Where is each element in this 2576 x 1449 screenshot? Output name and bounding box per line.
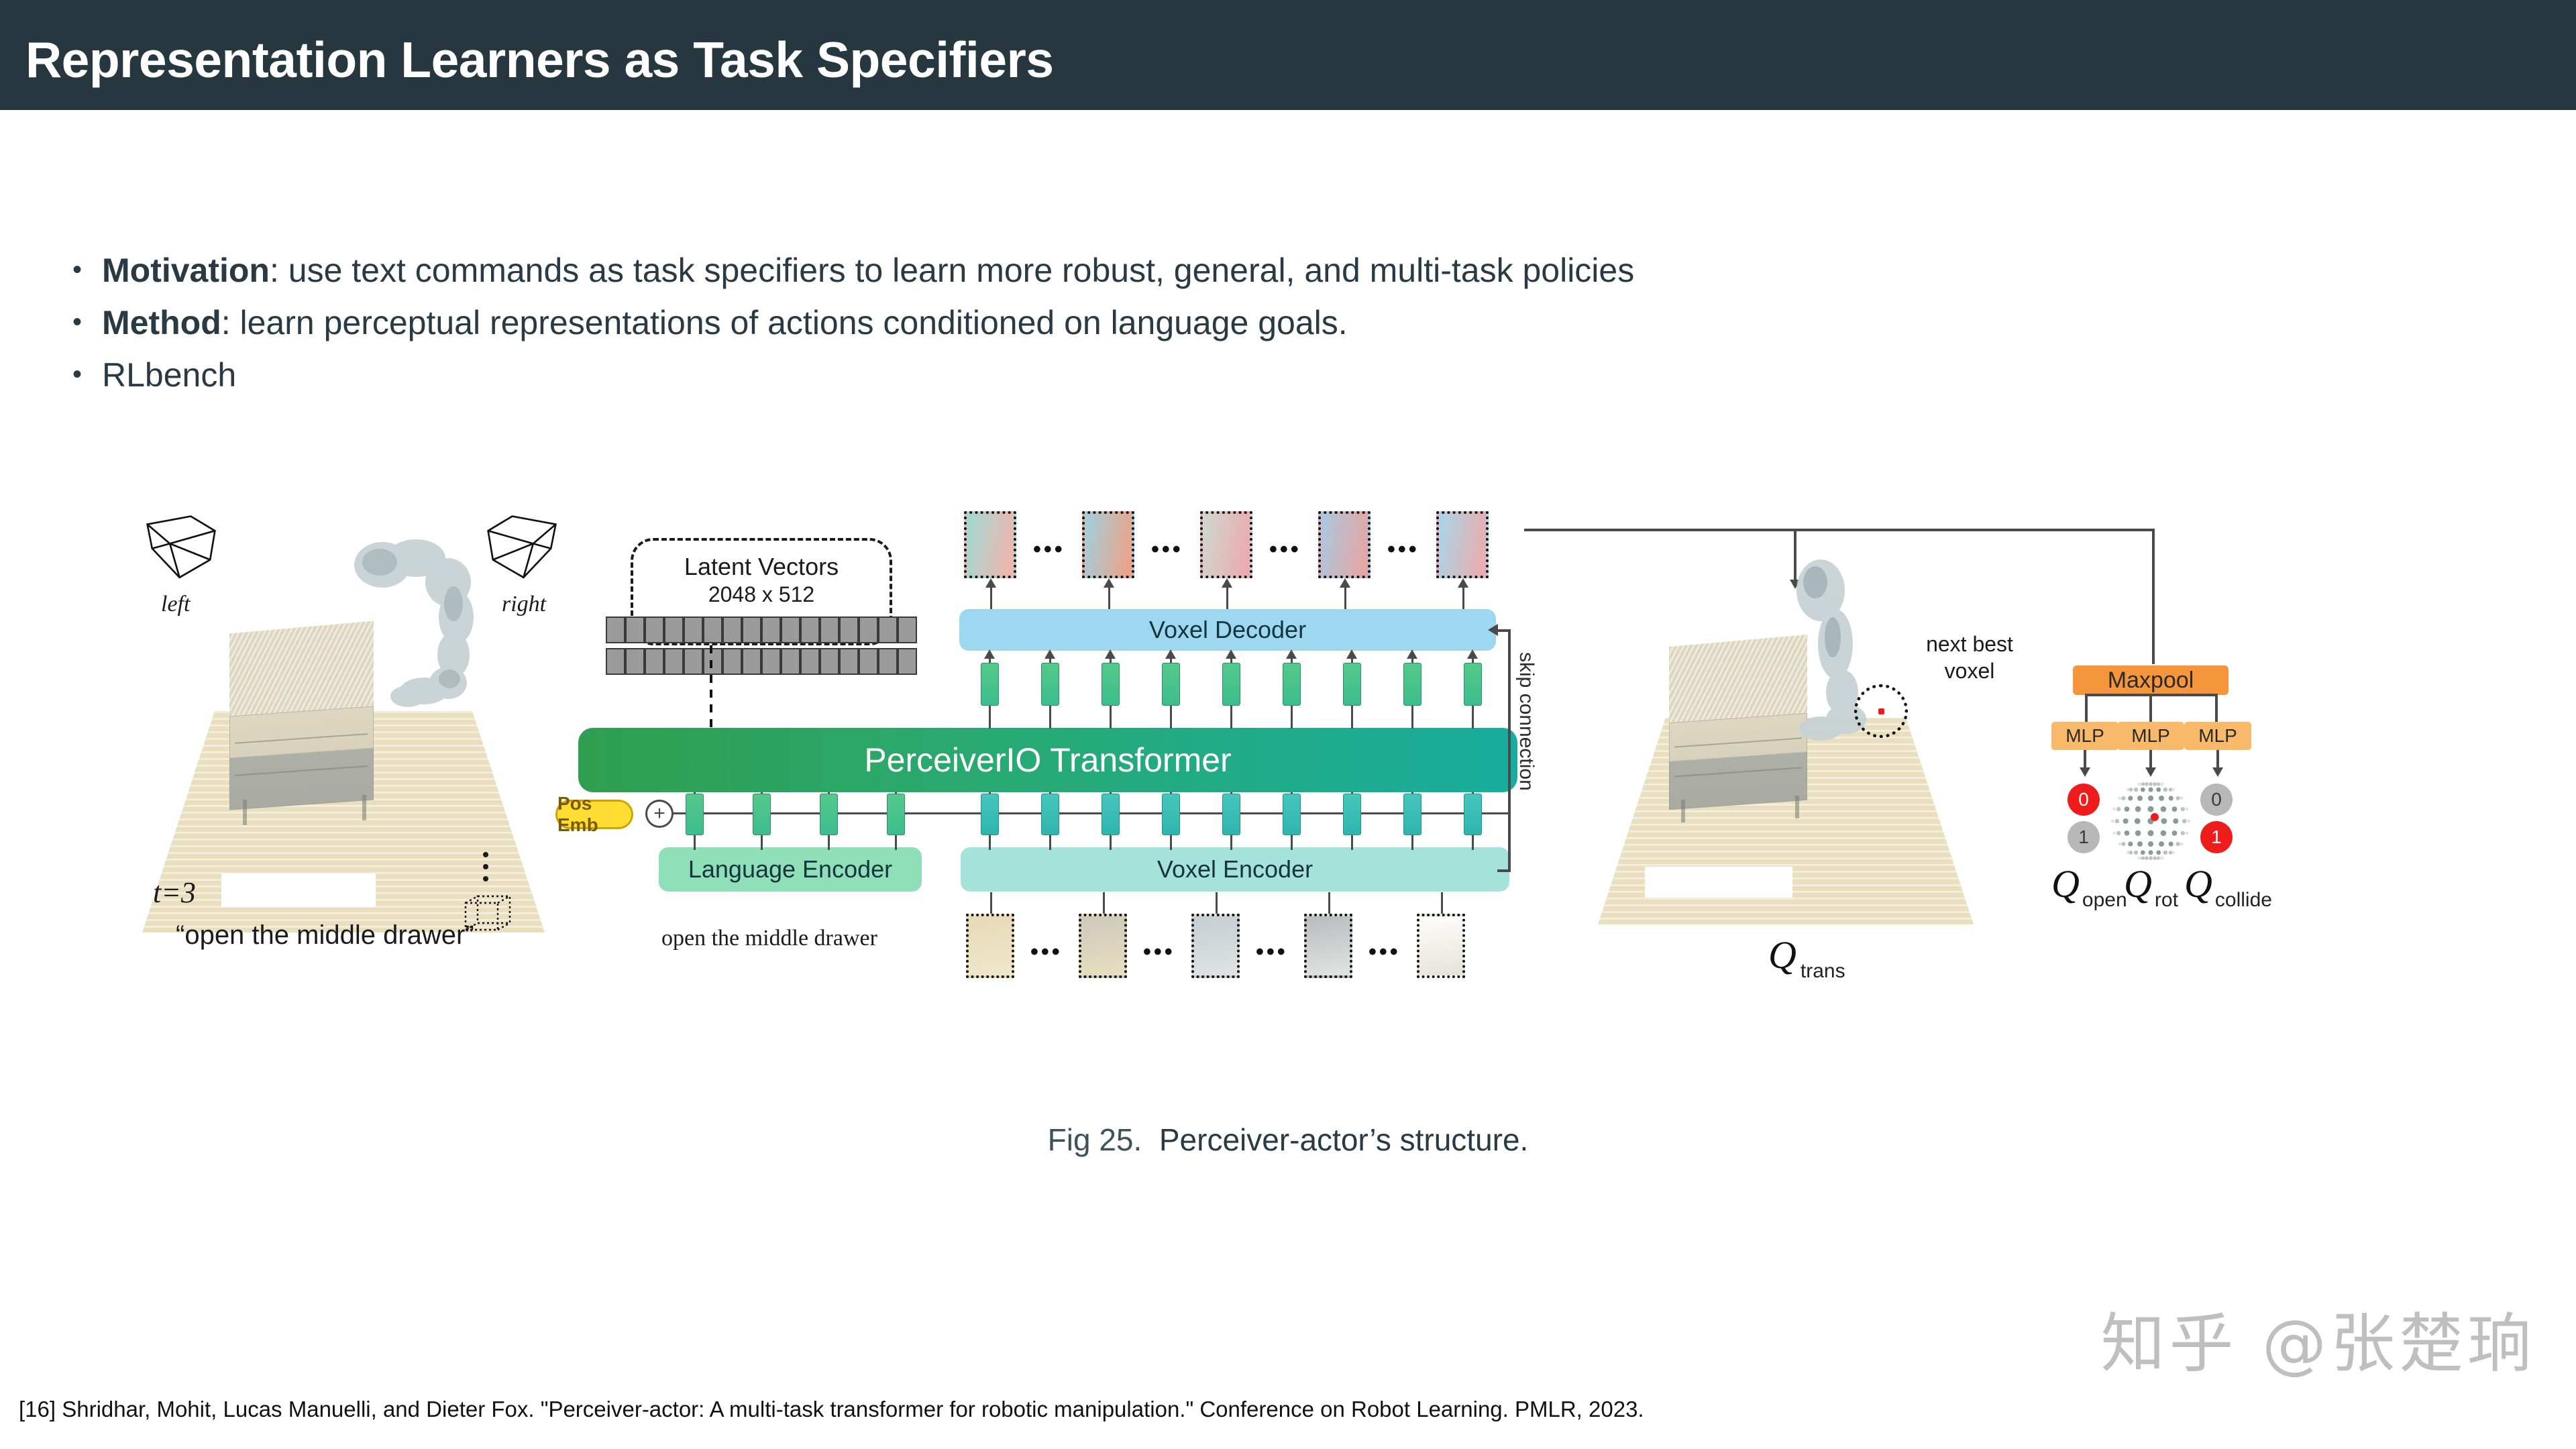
decoded-voxel-token [964, 511, 1016, 578]
voxel-token [1283, 794, 1301, 835]
q-subscript: collide [2215, 889, 2272, 911]
q-collide-label: Qcollide [2184, 861, 2269, 906]
rotation-sphere-dot [2149, 850, 2153, 855]
left-scene-caption: “open the middle drawer” [176, 920, 474, 951]
connector-line [694, 835, 696, 850]
language-tokens-text: open the middle drawer [661, 926, 877, 951]
list-item: • Method: learn perceptual representatio… [67, 302, 2281, 354]
language-token [820, 794, 838, 835]
connector-line [1291, 706, 1293, 729]
latent-vector-cell [781, 648, 800, 675]
rotation-sphere-dot [2161, 783, 2164, 786]
input-voxel-token [1304, 914, 1352, 978]
latent-vector-cell [800, 616, 820, 643]
skip-connection-label: skip connection [1515, 652, 1538, 791]
left-scene-table-gap [221, 873, 376, 907]
voxel-token [1222, 794, 1240, 835]
rotation-sphere-dot [2135, 818, 2141, 824]
connector-line [1230, 835, 1232, 850]
input-voxel-token [1417, 914, 1465, 978]
rotation-sphere-dot [2153, 782, 2157, 786]
rotation-sphere-dot [2112, 808, 2116, 811]
bullet-text: Motivation: use text commands as task sp… [102, 250, 1634, 291]
ellipsis: ••• [1368, 939, 1401, 965]
camera-left-icon [141, 510, 221, 590]
connector-arrowhead [1165, 649, 1176, 659]
decoder-input-token [1403, 663, 1421, 706]
voxel-token [1464, 794, 1482, 835]
rotation-sphere-dot [2161, 830, 2167, 837]
connector-arrowhead [1105, 649, 1116, 659]
rotation-sphere-dot [2156, 851, 2161, 855]
voxel-token [1162, 794, 1180, 835]
rotation-sphere-dot [2186, 808, 2189, 811]
decoder-input-token [1162, 663, 1180, 706]
bullet-label: Motivation [102, 252, 270, 289]
rotation-sphere-dot [2137, 841, 2143, 847]
language-encoder-block: Language Encoder [659, 847, 922, 892]
rotation-sphere-dot [2182, 819, 2187, 824]
rotation-sphere-dot [2121, 842, 2125, 846]
rotation-sphere-dot [2180, 843, 2183, 845]
mlp-output-line [2216, 750, 2219, 769]
rotation-sphere-dot [2125, 806, 2130, 812]
page-title: Representation Learners as Task Specifie… [25, 31, 1053, 89]
connector-arrowhead [1458, 578, 1468, 588]
ellipsis: ••• [1151, 537, 1183, 563]
latent-vector-cell [742, 616, 761, 643]
figure-caption: Fig 25. Perceiver-actor’s structure. [0, 1122, 2576, 1158]
decoder-input-token [981, 663, 999, 706]
latent-vector-cell [722, 648, 742, 675]
zhihu-watermark: 知乎 @张楚珦 [2100, 1291, 2536, 1385]
rotation-sphere-icon [2104, 774, 2198, 868]
q-subscript: trans [1801, 960, 1845, 982]
right-scene-drawer-leg [1795, 796, 1799, 818]
connector-line [828, 835, 830, 850]
rotation-sphere-dot [2148, 830, 2154, 836]
maxpool-branch-line [2215, 694, 2218, 723]
left-scene-drawer-leg [243, 800, 247, 825]
rotation-sphere-dot [2145, 856, 2149, 860]
rotation-sphere-dot [2163, 851, 2167, 855]
left-scene-robot-arm [335, 523, 510, 745]
reference-footnote: [16] Shridhar, Mohit, Lucas Manuelli, an… [19, 1397, 1644, 1422]
figure-caption-text: Perceiver-actor’s structure. [1159, 1122, 1528, 1157]
rotation-sphere-dot [2135, 830, 2141, 837]
bullet-body: RLbench [102, 356, 236, 394]
rotation-sphere-dot [2115, 819, 2120, 824]
connector-line [990, 892, 992, 914]
pos-emb-badge: Pos Emb [555, 800, 633, 829]
add-operator-icon: + [645, 800, 674, 828]
connector-line [1110, 835, 1112, 850]
connector-line [1170, 835, 1172, 850]
left-scene-vertical-ellipsis [483, 852, 488, 888]
q-rot-label: Qrot [2124, 861, 2176, 906]
input-voxel-token [966, 914, 1014, 978]
latent-vector-cell [664, 648, 684, 675]
mlp-block-open: MLP [2051, 722, 2118, 750]
language-token [887, 794, 905, 835]
list-item: • RLbench [67, 354, 2281, 407]
rotation-sphere-dot [2172, 788, 2175, 791]
ellipsis: ••• [1387, 537, 1419, 563]
decoded-voxel-token [1318, 511, 1371, 578]
rotation-sphere-dot [2172, 830, 2178, 836]
bullet-label: Method [102, 304, 221, 341]
latent-vector-cell [898, 616, 917, 643]
connector-line [1049, 706, 1051, 729]
skip-connection-arrowhead [1488, 624, 1498, 636]
decoder-input-token [1222, 663, 1240, 706]
maxpool-branch-line [2085, 694, 2088, 723]
rotation-sphere-dot [2128, 842, 2133, 847]
ellipsis: ••• [1030, 939, 1063, 965]
output-routing-line [2152, 529, 2155, 664]
rotation-sphere-dot [2137, 796, 2143, 801]
left-scene-timestep: t=3 [153, 875, 196, 910]
rotation-sphere-dot [2129, 788, 2133, 792]
connector-line [1216, 892, 1218, 914]
rotation-sphere-dot [2123, 818, 2129, 824]
rotation-sphere-dot [2134, 851, 2138, 855]
latent-vector-cell [606, 648, 625, 675]
maxpool-branch-line [2149, 694, 2152, 723]
q-symbol: Q [2124, 862, 2152, 906]
rotation-sphere-dot [2112, 832, 2116, 835]
latent-vector-cell [820, 616, 839, 643]
rotation-sphere-dot [2159, 841, 2164, 847]
q-open-value-0: 0 [2068, 784, 2100, 816]
connector-line [761, 835, 763, 850]
decoded-voxel-token [1436, 511, 1489, 578]
rotation-sphere-dot [2116, 831, 2121, 835]
rotation-sphere-dot [2169, 842, 2173, 847]
q-symbol: Q [2051, 862, 2080, 906]
decoder-input-token [1343, 663, 1361, 706]
latent-vector-cell [761, 616, 781, 643]
next-best-voxel-line1: next best [1902, 631, 2037, 657]
list-item: • Motivation: use text commands as task … [67, 250, 2281, 302]
rotation-sphere-dot [2176, 842, 2180, 846]
latent-vector-cell [645, 616, 664, 643]
rotation-sphere-dot [2172, 806, 2178, 812]
rotation-sphere-dot [2125, 830, 2130, 836]
latent-vector-cell [859, 616, 878, 643]
rotation-sphere-dot [2148, 841, 2153, 847]
rotation-sphere-dot [2118, 843, 2121, 846]
q-symbol: Q [2184, 862, 2212, 906]
language-token [686, 794, 704, 835]
connector-arrowhead [984, 649, 995, 659]
connector-arrowhead [1222, 578, 1232, 588]
camera-left-label: left [161, 592, 190, 617]
rotation-sphere-dot [2135, 806, 2141, 812]
figure-perceiver-actor: left right t=3 [0, 496, 2576, 1087]
rotation-sphere-dot [2173, 818, 2178, 824]
ellipsis: ••• [1033, 537, 1065, 563]
bullet-marker: • [67, 250, 102, 290]
latent-vector-cell [606, 616, 625, 643]
skip-connection-line [1508, 629, 1511, 871]
latent-vector-cell [645, 648, 664, 675]
skip-connection-line [1497, 869, 1511, 872]
latent-vector-cell [703, 616, 722, 643]
latent-vector-cell [684, 648, 703, 675]
rotation-sphere-dot [2149, 788, 2153, 792]
rotation-sphere-dot [2149, 856, 2153, 860]
input-voxel-token [1079, 914, 1127, 978]
q-open-label: Qopen [2051, 861, 2125, 906]
pos-emb-rail [674, 812, 1509, 814]
connector-line [1351, 835, 1353, 850]
connector-arrowhead [985, 578, 996, 588]
connector-line [1170, 706, 1172, 729]
rotation-sphere-dot [2163, 788, 2167, 792]
latent-vector-cell [664, 616, 684, 643]
latent-vector-cell [800, 648, 820, 675]
rotation-sphere-dot [2156, 788, 2161, 792]
latent-vector-row [606, 616, 917, 643]
mlp-output-arrowhead [2212, 767, 2223, 777]
ellipsis: ••• [1256, 939, 1288, 965]
voxel-token [1343, 794, 1361, 835]
rotation-sphere-dot [2118, 797, 2121, 800]
connector-line [1351, 706, 1353, 729]
rotation-sphere-dot [2141, 782, 2145, 786]
connector-line [1103, 892, 1105, 914]
latent-vector-cell [839, 648, 859, 675]
mlp-block-rot: MLP [2117, 722, 2184, 750]
connector-line [1291, 835, 1293, 850]
latent-vectors-title: Latent Vectors [633, 553, 890, 581]
rotation-sphere-dot [2172, 851, 2175, 854]
connector-line [1472, 835, 1474, 850]
bullet-body: : use text commands as task specifiers t… [270, 252, 1634, 289]
rotation-sphere-dot [2128, 796, 2133, 800]
bullet-list: • Motivation: use text commands as task … [67, 250, 2281, 407]
voxel-token [1102, 794, 1120, 835]
connector-line [989, 706, 991, 729]
rotation-sphere-dot [2180, 797, 2183, 800]
latent-vector-cell [898, 648, 917, 675]
latent-vector-cell [625, 616, 645, 643]
rotation-sphere-dot [2181, 807, 2185, 811]
decoded-voxel-token [1200, 511, 1252, 578]
voxel-encoder-block: Voxel Encoder [961, 847, 1509, 892]
perceiverio-transformer-block: PerceiverIO Transformer [578, 728, 1517, 792]
connector-line [1328, 892, 1330, 914]
decoded-voxel-token [1082, 511, 1134, 578]
rotation-sphere-dot [2116, 807, 2121, 811]
next-best-voxel-marker [1878, 708, 1884, 714]
q-collide-value-1: 1 [2200, 821, 2233, 853]
output-routing-line [1524, 529, 2155, 531]
rotation-sphere-dot [2129, 851, 2133, 855]
connector-line [1049, 835, 1051, 850]
q-trans-label: Qtrans [1768, 932, 1841, 977]
connector-arrowhead [1340, 578, 1350, 588]
maxpool-block: Maxpool [2073, 665, 2229, 695]
connector-line [1472, 706, 1474, 729]
decoder-input-token [1283, 663, 1301, 706]
latent-vector-cell [625, 648, 645, 675]
right-scene-drawer-leg [1681, 800, 1685, 822]
latent-vector-row [606, 648, 917, 675]
rotation-sphere-dot [2148, 796, 2153, 801]
connector-arrowhead [1407, 649, 1417, 659]
rotation-sphere-dot [2141, 851, 2145, 855]
rotation-sphere-dot [2110, 820, 2114, 823]
rotation-sphere-dot [2149, 782, 2153, 786]
latent-vector-cell [859, 648, 878, 675]
bullet-marker: • [67, 354, 102, 394]
rotation-sphere-dot [2181, 831, 2185, 835]
q-symbol: Q [1768, 933, 1796, 977]
voxel-token [1403, 794, 1421, 835]
bullet-body: : learn perceptual representations of ac… [221, 304, 1348, 341]
slide-header-bar: Representation Learners as Task Specifie… [0, 0, 2576, 110]
rotation-sphere-dot [2186, 832, 2189, 835]
latent-vector-cell [722, 616, 742, 643]
rotation-sphere-dot [2161, 857, 2164, 859]
rotation-sphere-dot [2159, 796, 2164, 801]
latent-to-transformer-link [708, 645, 714, 727]
latent-vector-cell [761, 648, 781, 675]
bullet-text: Method: learn perceptual representations… [102, 302, 1348, 343]
rotation-sphere-selected-dot [2151, 813, 2159, 821]
q-collide-value-0: 0 [2200, 784, 2233, 816]
skip-connection-line [1497, 629, 1511, 632]
connector-line [1230, 706, 1232, 729]
connector-arrowhead [1346, 649, 1357, 659]
connector-line [1411, 706, 1413, 729]
connector-line [895, 835, 897, 850]
rotation-sphere-dot [2141, 857, 2145, 860]
left-scene-drawer-leg [362, 795, 366, 820]
figure-caption-prefix: Fig 25. [1048, 1122, 1142, 1157]
connector-arrowhead [1286, 649, 1297, 659]
decoder-input-token [1464, 663, 1482, 706]
input-voxel-token [1191, 914, 1240, 978]
bullet-text: RLbench [102, 354, 236, 396]
mlp-output-line [2084, 750, 2086, 769]
connector-line [1411, 835, 1413, 850]
latent-vectors-box: Latent Vectors 2048 x 512 [631, 538, 892, 645]
rotation-sphere-dot [2141, 788, 2145, 792]
bullet-marker: • [67, 302, 102, 342]
decoder-input-token [1041, 663, 1059, 706]
next-best-voxel-line2: voxel [1902, 657, 2037, 684]
rotation-sphere-dot [2176, 796, 2180, 800]
mlp-output-arrowhead [2080, 767, 2090, 777]
right-scene-table-gap [1645, 867, 1792, 898]
rotation-sphere-dot [2161, 806, 2167, 812]
rotation-sphere-dot [2121, 796, 2125, 800]
rotation-sphere-dot [2153, 856, 2157, 860]
rotation-sphere-dot [2134, 788, 2138, 792]
language-token [753, 794, 771, 835]
connector-arrowhead [1226, 649, 1236, 659]
connector-arrowhead [1467, 649, 1478, 659]
ellipsis: ••• [1269, 537, 1301, 563]
rotation-sphere-dot [2161, 818, 2167, 824]
next-best-voxel-label: next best voxel [1902, 631, 2037, 684]
latent-vector-cell [781, 616, 800, 643]
mlp-block-collide: MLP [2184, 722, 2251, 750]
latent-vector-cell [820, 648, 839, 675]
connector-line [1110, 706, 1112, 729]
q-open-value-1: 1 [2068, 821, 2100, 853]
rotation-sphere-dot [2188, 820, 2191, 823]
latent-vector-cell [839, 616, 859, 643]
latent-vector-cell [878, 648, 898, 675]
latent-vectors-dims: 2048 x 512 [633, 582, 890, 607]
rotation-sphere-dot [2145, 782, 2149, 786]
rotation-sphere-dot [2148, 806, 2154, 812]
q-subscript: rot [2155, 889, 2178, 911]
voxel-token [981, 794, 999, 835]
latent-vector-cell [742, 648, 761, 675]
mlp-output-line [2149, 750, 2152, 769]
voxel-token [1041, 794, 1059, 835]
voxel-decoder-block: Voxel Decoder [959, 609, 1496, 651]
latent-vector-cell [684, 616, 703, 643]
q-subscript: open [2082, 889, 2127, 911]
decoder-input-token [1102, 663, 1120, 706]
rotation-sphere-dot [2169, 796, 2173, 800]
connector-line [1441, 892, 1443, 914]
ellipsis: ••• [1143, 939, 1175, 965]
latent-vector-cell [878, 616, 898, 643]
connector-arrowhead [1044, 649, 1055, 659]
connector-line [989, 835, 991, 850]
connector-arrowhead [1104, 578, 1114, 588]
